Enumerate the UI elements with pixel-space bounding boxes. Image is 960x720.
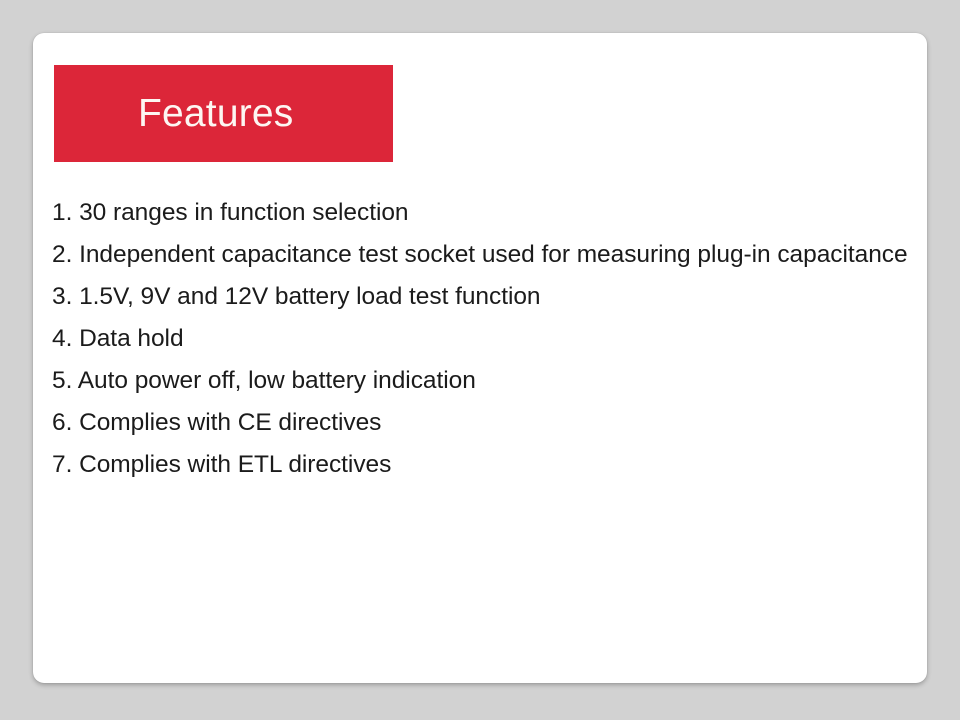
list-item: 7. Complies with ETL directives (52, 444, 912, 486)
slide-card: Features 1. 30 ranges in function select… (33, 33, 927, 683)
feature-list: 1. 30 ranges in function selection 2. In… (52, 192, 912, 486)
list-item: 4. Data hold (52, 318, 912, 360)
list-item: 6. Complies with CE directives (52, 402, 912, 444)
list-item: 5. Auto power off, low battery indicatio… (52, 360, 912, 402)
list-item: 1. 30 ranges in function selection (52, 192, 912, 234)
slide-title: Features (138, 94, 294, 133)
list-item: 2. Independent capacitance test socket u… (52, 234, 912, 276)
list-item: 3. 1.5V, 9V and 12V battery load test fu… (52, 276, 912, 318)
slide-root: Features 1. 30 ranges in function select… (0, 0, 960, 720)
title-banner: Features (54, 65, 393, 162)
